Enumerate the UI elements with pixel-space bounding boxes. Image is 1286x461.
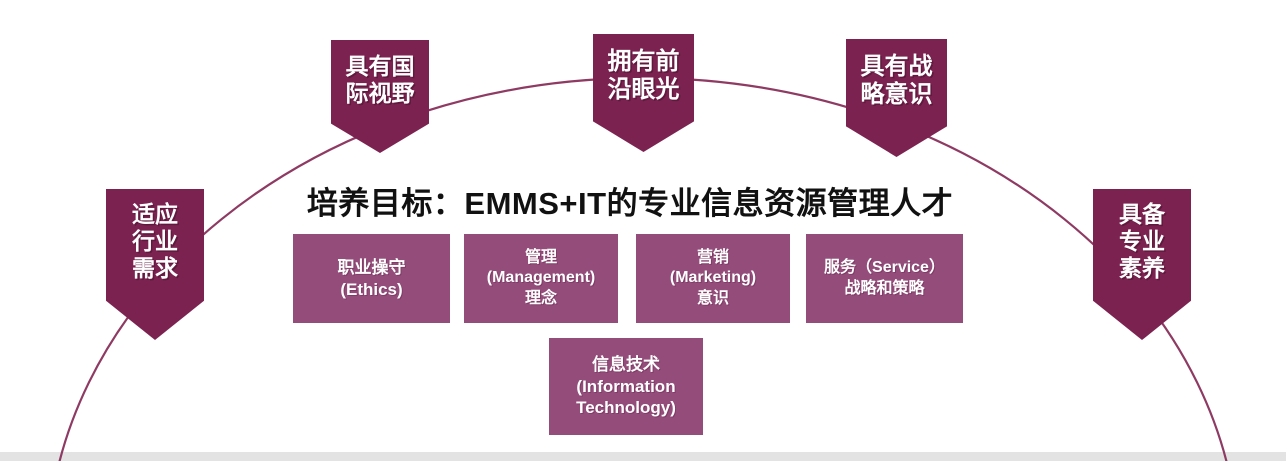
banner-international-vision[interactable]: 具有国 际视野 (331, 40, 429, 153)
page-bottom-edge (0, 452, 1286, 461)
box-line: 理念 (464, 289, 618, 309)
banner-line: 际视野 (331, 80, 429, 107)
box-line: 战略和策略 (806, 279, 963, 299)
box-service[interactable]: 服务（Service） 战略和策略 (806, 234, 963, 323)
banner-line: 沿眼光 (593, 76, 694, 104)
banner-line: 专业 (1093, 228, 1191, 255)
banner-line: 具备 (1093, 201, 1191, 228)
banner-line: 拥有前 (593, 48, 694, 76)
box-line: (Management) (464, 268, 618, 288)
box-line: (Ethics) (293, 279, 450, 301)
box-line: (Information (549, 376, 703, 398)
banner-line: 具有战 (846, 53, 947, 81)
box-line: Technology) (549, 397, 703, 419)
box-line: 职业操守 (293, 257, 450, 279)
banner-strategic-awareness[interactable]: 具有战 略意识 (846, 39, 947, 157)
box-information-technology[interactable]: 信息技术 (Information Technology) (549, 338, 703, 435)
banner-line: 行业 (106, 228, 204, 255)
banner-line: 略意识 (846, 81, 947, 109)
banner-line: 素养 (1093, 255, 1191, 282)
diagram-title: 培养目标：EMMS+IT的专业信息资源管理人才 (250, 178, 1010, 223)
box-management[interactable]: 管理 (Management) 理念 (464, 234, 618, 323)
banner-line: 适应 (106, 201, 204, 228)
banner-line: 需求 (106, 255, 204, 282)
box-line: 营销 (636, 248, 790, 268)
box-line: 意识 (636, 289, 790, 309)
diagram-canvas: 适应 行业 需求 具有国 际视野 拥有前 沿眼光 具有战 略意识 具备 专业 素… (0, 0, 1286, 461)
box-line: 服务（Service） (806, 258, 963, 278)
box-line: 管理 (464, 248, 618, 268)
banner-line: 具有国 (331, 53, 429, 80)
box-ethics[interactable]: 职业操守 (Ethics) (293, 234, 450, 323)
box-marketing[interactable]: 营销 (Marketing) 意识 (636, 234, 790, 323)
box-line: (Marketing) (636, 268, 790, 288)
banner-cutting-edge-vision[interactable]: 拥有前 沿眼光 (593, 34, 694, 152)
banner-professional-quality[interactable]: 具备 专业 素养 (1093, 189, 1191, 340)
box-line: 信息技术 (549, 354, 703, 376)
banner-adapt-industry-demand[interactable]: 适应 行业 需求 (106, 189, 204, 340)
